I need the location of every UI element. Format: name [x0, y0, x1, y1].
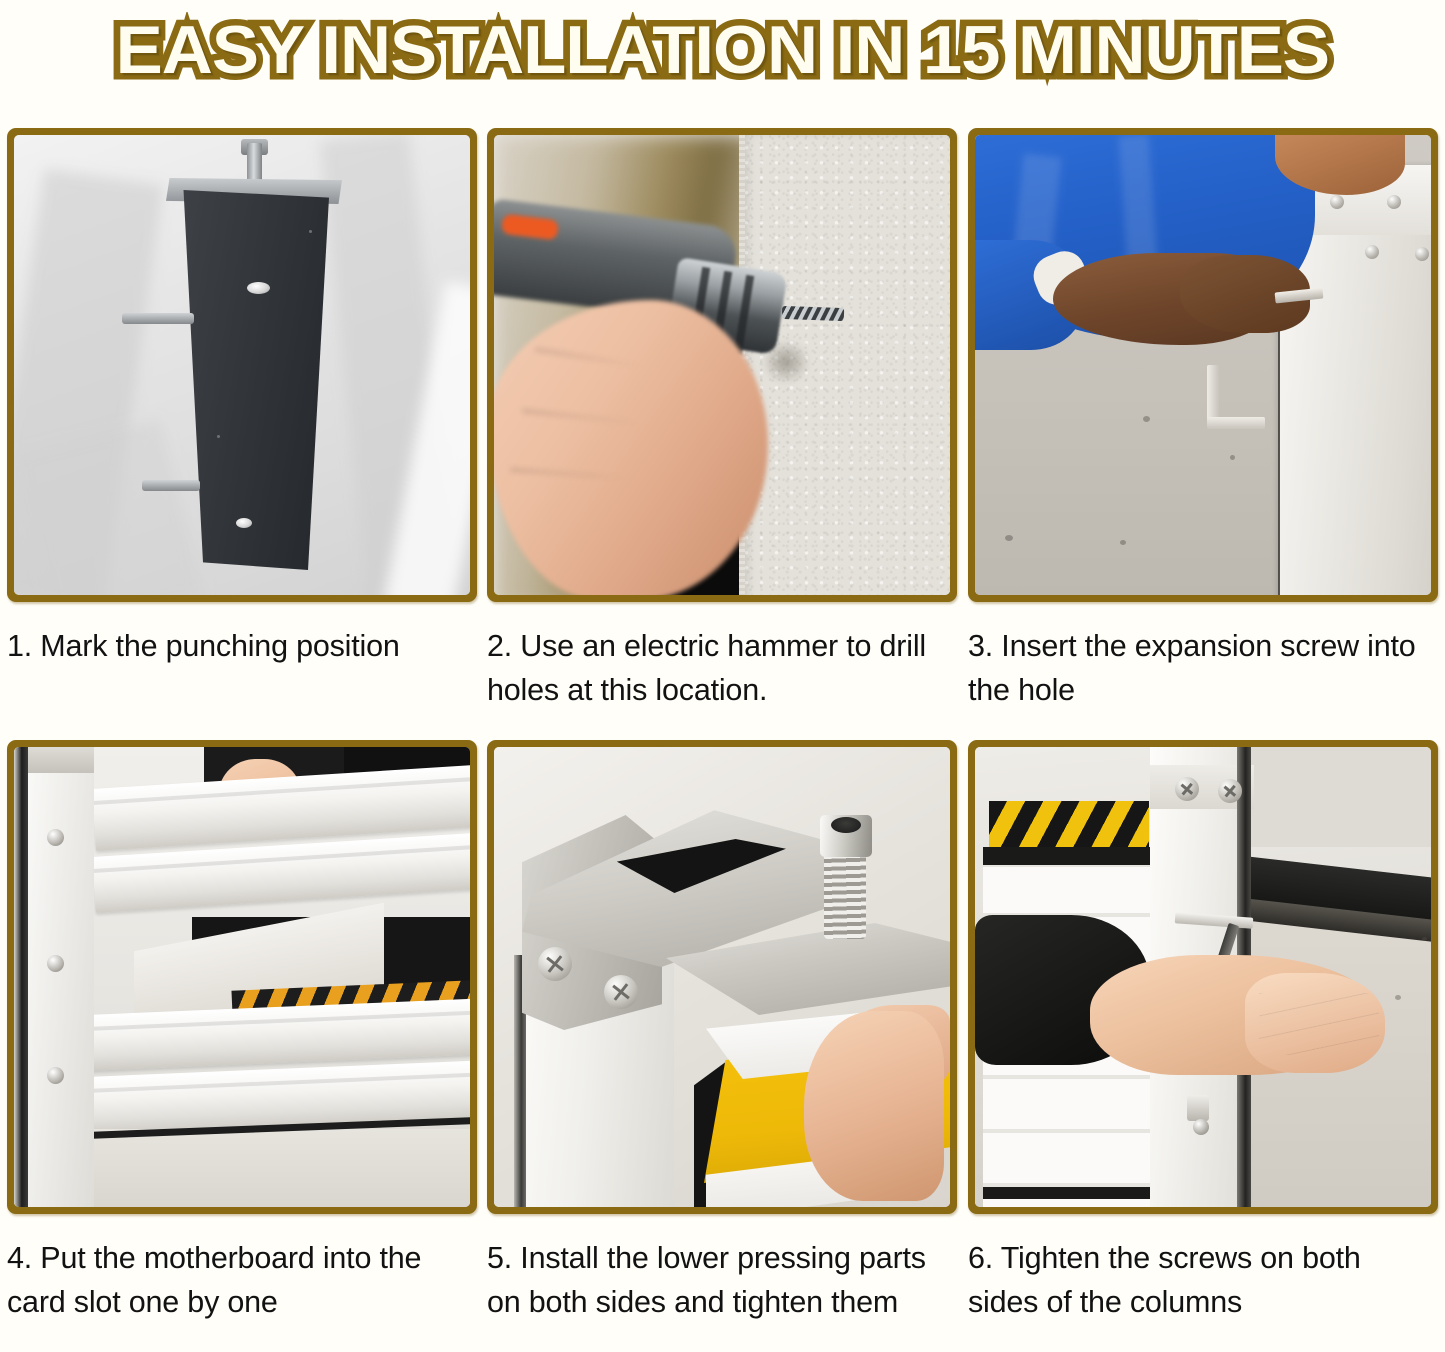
installation-infographic: EASY INSTALLATION IN 15 MINUTES [0, 0, 1445, 1352]
steps-row-bottom: 4. Put the motherboard into the card slo… [0, 740, 1445, 1352]
step-1-photo-frame [7, 128, 477, 602]
steps-grid: 1. Mark the punching position [0, 128, 1445, 1352]
page-title: EASY INSTALLATION IN 15 MINUTES [116, 16, 1329, 84]
step-card-3: 3. Insert the expansion screw into the h… [968, 128, 1438, 712]
step-2-caption: 2. Use an electric hammer to drill holes… [487, 624, 957, 712]
step-4-insert-motherboard-photo [14, 747, 470, 1207]
step-2-photo-frame [487, 128, 957, 602]
step-card-6: 6. Tighten the screws on both sides of t… [968, 740, 1438, 1324]
step-4-photo-frame [7, 740, 477, 1214]
step-card-5: 5. Install the lower pressing parts on b… [487, 740, 957, 1324]
step-4-caption: 4. Put the motherboard into the card slo… [7, 1236, 477, 1324]
step-card-1: 1. Mark the punching position [7, 128, 477, 668]
step-6-caption: 6. Tighten the screws on both sides of t… [968, 1236, 1438, 1324]
header-banner: EASY INSTALLATION IN 15 MINUTES [0, 0, 1445, 100]
steps-row-top: 1. Mark the punching position [0, 128, 1445, 733]
step-card-4: 4. Put the motherboard into the card slo… [7, 740, 477, 1324]
step-1-mark-punching-position-photo [14, 135, 470, 595]
step-6-photo-frame [968, 740, 1438, 1214]
step-2-drill-holes-photo [494, 135, 950, 595]
step-3-photo-frame [968, 128, 1438, 602]
step-3-caption: 3. Insert the expansion screw into the h… [968, 624, 1438, 712]
step-5-caption: 5. Install the lower pressing parts on b… [487, 1236, 957, 1324]
step-1-caption: 1. Mark the punching position [7, 624, 477, 668]
step-5-install-pressing-parts-photo [494, 747, 950, 1207]
step-card-2: 2. Use an electric hammer to drill holes… [487, 128, 957, 712]
step-5-photo-frame [487, 740, 957, 1214]
step-6-tighten-screws-photo [975, 747, 1431, 1207]
step-3-insert-expansion-screw-photo [975, 135, 1431, 595]
